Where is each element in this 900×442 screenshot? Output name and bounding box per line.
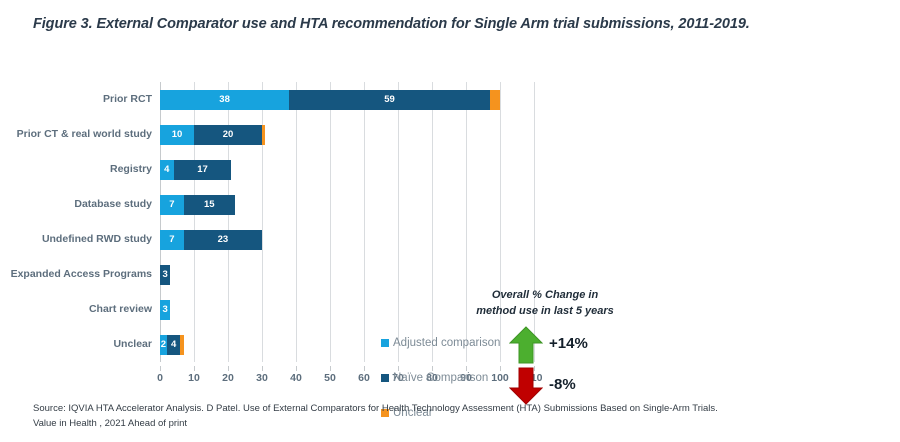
bar-segment-naive[interactable]: 59 — [289, 90, 490, 110]
stacked-bar[interactable]: 24 — [160, 335, 184, 355]
bar-segment-naive[interactable]: 17 — [174, 160, 232, 180]
stacked-bar[interactable]: 715 — [160, 195, 235, 215]
category-label: Registry — [0, 152, 152, 187]
bar-segment-unclear[interactable] — [490, 90, 500, 110]
x-tick-60 — [364, 366, 365, 371]
bar-row: Expanded Access Programs3 — [0, 257, 900, 292]
bar-row: Registry417 — [0, 152, 900, 187]
legend-label-naive: Naïve Comparison — [393, 372, 488, 384]
source-line-1: Source: IQVIA HTA Accelerator Analysis. … — [33, 402, 843, 417]
stacked-bar[interactable]: 1020 — [160, 125, 265, 145]
annotation-heading-line1: Overall % Change in — [455, 288, 635, 304]
bar-row: Undefined RWD study723 — [0, 222, 900, 257]
bar-segment-naive[interactable]: 15 — [184, 195, 235, 215]
category-label: Expanded Access Programs — [0, 257, 152, 292]
bar-segment-adjusted[interactable]: 7 — [160, 230, 184, 250]
legend-item-adjusted[interactable]: Adjusted comparison — [381, 334, 500, 350]
source-line-2: Value in Health , 2021 Ahead of print — [33, 417, 843, 432]
bar-segment-adjusted[interactable]: 7 — [160, 195, 184, 215]
annotation-heading: Overall % Change in method use in last 5… — [455, 288, 635, 320]
bar-segment-adjusted[interactable]: 4 — [160, 160, 174, 180]
legend-label-adjusted: Adjusted comparison — [393, 337, 500, 349]
bar-segment-naive[interactable]: 3 — [160, 265, 170, 285]
category-label: Database study — [0, 187, 152, 222]
x-tick-50 — [330, 366, 331, 371]
arrow-down-icon — [509, 366, 543, 406]
bar-segment-adjusted[interactable]: 38 — [160, 90, 289, 110]
legend-swatch-naive — [381, 374, 389, 382]
bar-segment-unclear[interactable] — [262, 125, 265, 145]
bar-segment-unclear[interactable] — [180, 335, 183, 355]
category-label: Prior RCT — [0, 82, 152, 117]
page-title: Figure 3. External Comparator use and HT… — [33, 14, 823, 36]
bar-segment-adjusted[interactable]: 3 — [160, 300, 170, 320]
legend-item-naive[interactable]: Naïve Comparison — [381, 369, 488, 385]
x-tick-30 — [262, 366, 263, 371]
delta-decrease-value: -8% — [549, 376, 576, 393]
legend-swatch-adjusted — [381, 339, 389, 347]
source-note: Source: IQVIA HTA Accelerator Analysis. … — [33, 402, 843, 431]
arrow-up-icon — [509, 325, 543, 365]
x-tick-0 — [160, 366, 161, 371]
x-tick-20 — [228, 366, 229, 371]
bar-segment-naive[interactable]: 20 — [194, 125, 262, 145]
stacked-bar[interactable]: 3859 — [160, 90, 500, 110]
category-label: Chart review — [0, 292, 152, 327]
x-tick-10 — [194, 366, 195, 371]
bar-segment-naive[interactable]: 4 — [167, 335, 181, 355]
stacked-bar[interactable]: 723 — [160, 230, 262, 250]
bar-segment-adjusted[interactable]: 2 — [160, 335, 167, 355]
stacked-bar[interactable]: 417 — [160, 160, 231, 180]
category-label: Undefined RWD study — [0, 222, 152, 257]
category-label: Unclear — [0, 327, 152, 362]
x-tick-100 — [500, 366, 501, 371]
x-tick-40 — [296, 366, 297, 371]
stacked-bar[interactable]: 3 — [160, 265, 170, 285]
annotation-heading-line2: method use in last 5 years — [455, 304, 635, 320]
bar-row: Chart review3 — [0, 292, 900, 327]
bar-row: Prior RCT3859 — [0, 82, 900, 117]
chart-container: Prior RCT3859Prior CT & real world study… — [0, 78, 900, 378]
bar-row: Prior CT & real world study1020 — [0, 117, 900, 152]
bar-segment-naive[interactable]: 23 — [184, 230, 262, 250]
delta-increase-value: +14% — [549, 335, 588, 352]
bar-row: Database study715 — [0, 187, 900, 222]
bar-segment-adjusted[interactable]: 10 — [160, 125, 194, 145]
stacked-bar[interactable]: 3 — [160, 300, 170, 320]
category-label: Prior CT & real world study — [0, 117, 152, 152]
